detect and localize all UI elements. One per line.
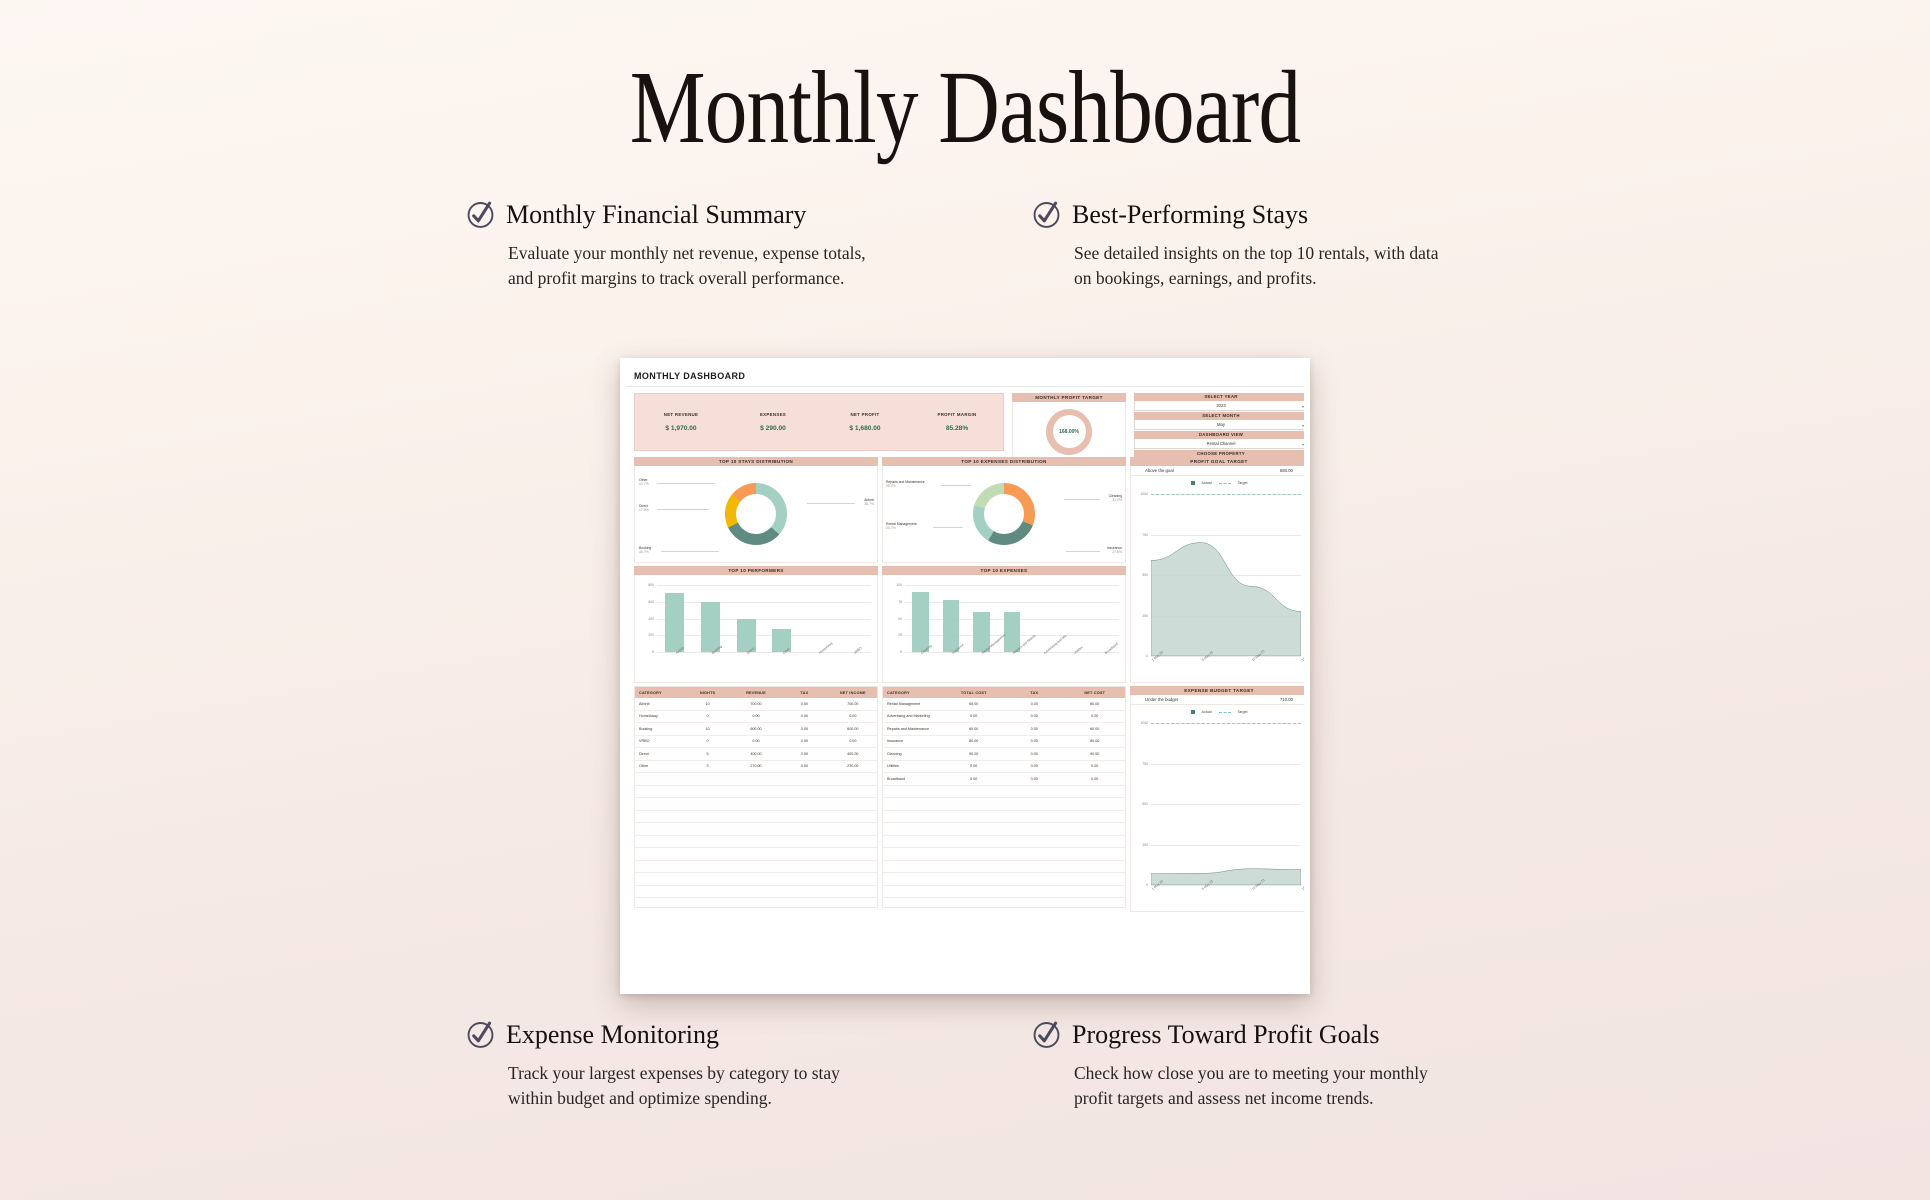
table-cell: 400.00 xyxy=(829,748,877,761)
table-row: Cleaning90.000.0090.00 xyxy=(883,748,1125,761)
table-cell xyxy=(780,885,828,898)
table-cell xyxy=(829,810,877,823)
table-cell xyxy=(635,785,683,798)
table-row: HomeAway00.000.000.00 xyxy=(635,710,877,723)
table-cell xyxy=(732,823,780,836)
table-cell xyxy=(1004,810,1065,823)
table-row: Insurance80.000.0080.00 xyxy=(883,735,1125,748)
profit-target-percent: 168.00% xyxy=(1059,429,1079,435)
y-axis-tick: 400 xyxy=(648,617,654,621)
table-column-header: NET INCOME xyxy=(829,687,877,698)
table-cell: 0.00 xyxy=(1004,723,1065,736)
table-cell xyxy=(683,810,731,823)
table-cell xyxy=(683,898,731,909)
panel-header: MONTHLY PROFIT TARGET xyxy=(1012,393,1126,402)
callout-value: 13.7% xyxy=(639,482,649,486)
selector-value: 2023 xyxy=(1216,403,1225,408)
table-cell: 0.00 xyxy=(780,698,828,710)
donut-callout-rental-mgmt: Rental Management 20.7% xyxy=(886,522,917,531)
table-wrapper: CATEGORYNIGHTSREVENUETAXNET INCOMEAirbnb… xyxy=(634,686,878,908)
expenses-distribution-panel: TOP 10 EXPENSES DISTRIBUTION Repairs and… xyxy=(882,457,1126,562)
panel-header: TOP 10 PERFORMERS xyxy=(634,566,878,575)
profit-goal-area-plot: 02505007501000 xyxy=(1151,494,1301,656)
table-row-empty xyxy=(635,885,877,898)
check-circle-icon xyxy=(466,200,495,229)
callout-leader-line xyxy=(657,509,709,510)
bar-cell xyxy=(657,585,693,652)
donut-callout-insurance: Insurance 27.6% xyxy=(1107,546,1122,555)
table-cell xyxy=(780,785,828,798)
chevron-down-icon: ▾ xyxy=(1302,423,1304,428)
gridline xyxy=(1151,656,1301,657)
y-axis-tick: 100 xyxy=(896,583,902,587)
table-cell xyxy=(732,785,780,798)
callout-leader-line xyxy=(933,527,963,528)
stays-distribution-donut xyxy=(725,483,787,545)
chevron-down-icon: ▾ xyxy=(1302,404,1304,409)
table-cell: 0.00 xyxy=(829,710,877,723)
table-cell xyxy=(635,860,683,873)
x-axis-tick: VRBO xyxy=(835,652,871,680)
x-axis-tick: Broadband xyxy=(1088,652,1119,680)
table-column-header: TAX xyxy=(1004,687,1065,698)
feature-title: Expense Monitoring xyxy=(506,1022,719,1048)
panel-header: PROFIT GOAL TARGET xyxy=(1130,457,1308,466)
feature-description: Evaluate your monthly net revenue, expen… xyxy=(508,241,876,292)
monthly-profit-target-panel: MONTHLY PROFIT TARGET 168.00% xyxy=(1012,393,1126,462)
table-cell xyxy=(780,860,828,873)
y-axis-tick: 75 xyxy=(898,600,902,604)
bar xyxy=(912,592,929,652)
table-cell: 10 xyxy=(683,723,731,736)
table-cell xyxy=(683,885,731,898)
y-axis-tick: 1000 xyxy=(1140,492,1148,496)
selector-select-month: SELECT MONTH May ▾ xyxy=(1134,412,1308,430)
feature-progress-toward-profit-goals: Progress Toward Profit Goals Check how c… xyxy=(1032,1020,1462,1112)
table-cell xyxy=(883,848,944,861)
table-cell xyxy=(635,798,683,811)
table-cell xyxy=(829,835,877,848)
table-cell: 80.00 xyxy=(944,735,1005,748)
table-cell: Utilities xyxy=(883,760,944,773)
table-cell: 90.00 xyxy=(1065,748,1126,761)
table-cell xyxy=(635,848,683,861)
x-axis-tick: Other xyxy=(764,652,800,680)
x-axis-tick: Repairs and Mainte… xyxy=(997,652,1028,680)
selector-label: SELECT MONTH xyxy=(1134,412,1308,420)
table-cell: 0 xyxy=(683,735,731,748)
kpi-value: $ 1,970.00 xyxy=(635,425,727,432)
selector-dropdown[interactable]: Rental Channel ▾ xyxy=(1134,439,1308,449)
x-axis-tick: Rental Management xyxy=(966,652,997,680)
table-cell xyxy=(829,785,877,798)
gridline xyxy=(1151,885,1301,886)
table-cell xyxy=(829,885,877,898)
table-cell xyxy=(944,785,1005,798)
stays-distribution-panel: TOP 10 STAYS DISTRIBUTION Other 13.7% Di… xyxy=(634,457,878,562)
table-cell: 0.00 xyxy=(1004,735,1065,748)
x-axis-labels: CleaningInsuranceRental ManagementRepair… xyxy=(905,652,1119,680)
bar-cell xyxy=(835,585,871,652)
header-divider xyxy=(626,386,1304,387)
table-cell: 0.00 xyxy=(780,735,828,748)
bar xyxy=(701,602,720,652)
bar-cell xyxy=(905,585,936,652)
table-row: Repairs and Maintenance60.000.0060.00 xyxy=(883,723,1125,736)
table-row-empty xyxy=(883,835,1125,848)
chart-legend: Actual Target xyxy=(1131,710,1307,714)
x-axis-tick: Insurance xyxy=(936,652,967,680)
callout-value: 31.0% xyxy=(1112,498,1122,502)
table-cell xyxy=(780,810,828,823)
table-cell xyxy=(1004,823,1065,836)
expenses-distribution-donut xyxy=(973,483,1035,545)
expenses-table-panel: CATEGORYTOTAL COSTTAXNET COSTRental Mana… xyxy=(882,686,1126,908)
table-cell: 3 xyxy=(683,760,731,773)
callout-value: 30.7% xyxy=(639,550,649,554)
table-cell xyxy=(883,785,944,798)
kpi-strip: NET REVENUE $ 1,970.00 EXPENSES $ 290.00… xyxy=(634,393,1004,451)
table-cell: 0.00 xyxy=(732,710,780,723)
table-cell: 0.00 xyxy=(1004,698,1065,710)
table-column-header: TOTAL COST xyxy=(944,687,1005,698)
table-row-empty xyxy=(635,823,877,836)
goal-status-row: Under the budget 710.00 xyxy=(1130,695,1308,705)
panel-body: Actual Target 02505007501000 1 May 235 M… xyxy=(1130,705,1308,912)
table-cell: 700.00 xyxy=(829,698,877,710)
table-cell: Booking xyxy=(635,723,683,736)
table-cell: 0.00 xyxy=(780,748,828,761)
feature-monthly-financial-summary: Monthly Financial Summary Evaluate your … xyxy=(466,200,896,292)
profit-goal-target-panel: PROFIT GOAL TARGET Above the goal 680.00… xyxy=(1130,457,1308,682)
selector-select-year: SELECT YEAR 2023 ▾ xyxy=(1134,393,1308,411)
feature-title: Monthly Financial Summary xyxy=(506,202,806,228)
table-cell: 0.00 xyxy=(944,773,1005,786)
bar xyxy=(943,600,960,652)
stays-table: CATEGORYNIGHTSREVENUETAXNET INCOMEAirbnb… xyxy=(635,687,877,908)
panel-header: TOP 10 EXPENSES xyxy=(882,566,1126,575)
check-circle-icon xyxy=(466,1020,495,1049)
table-cell xyxy=(1065,823,1126,836)
table-cell: 600.00 xyxy=(732,723,780,736)
table-row-empty xyxy=(635,848,877,861)
table-row-empty xyxy=(883,810,1125,823)
stays-table-panel: CATEGORYNIGHTSREVENUETAXNET INCOMEAirbnb… xyxy=(634,686,878,908)
panel-header: EXPENSE BUDGET TARGET xyxy=(1130,686,1308,695)
table-cell xyxy=(1004,848,1065,861)
expense-budget-target-panel: EXPENSE BUDGET TARGET Under the budget 7… xyxy=(1130,686,1308,911)
legend-label-target: Target xyxy=(1238,481,1248,485)
table-cell xyxy=(829,898,877,909)
table-header-row: CATEGORYTOTAL COSTTAXNET COST xyxy=(883,687,1125,698)
sheet-title: MONTHLY DASHBOARD xyxy=(634,371,745,381)
table-cell xyxy=(1004,860,1065,873)
panel-body: 168.00% xyxy=(1012,402,1126,462)
area-series xyxy=(1151,494,1301,656)
y-axis-tick: 50 xyxy=(898,617,902,621)
kpi-net-revenue: NET REVENUE $ 1,970.00 xyxy=(635,412,727,432)
panel-body: Actual Target 02505007501000 1 May 235 M… xyxy=(1130,476,1308,683)
table-cell xyxy=(683,823,731,836)
bar-series xyxy=(657,585,871,652)
table-column-header: NET COST xyxy=(1065,687,1126,698)
feature-best-performing-stays: Best-Performing Stays See detailed insig… xyxy=(1032,200,1462,292)
panel-body: Other 13.7% Direct 17.9% Booking 30.7% A… xyxy=(634,466,878,563)
bar-cell xyxy=(764,585,800,652)
table-cell xyxy=(635,810,683,823)
table-cell xyxy=(1004,873,1065,886)
table-cell: 270.00 xyxy=(732,760,780,773)
y-axis-tick: 250 xyxy=(1142,843,1148,847)
table-cell: 5 xyxy=(683,748,731,761)
table-row-empty xyxy=(883,885,1125,898)
legend-label-actual: Actual xyxy=(1202,710,1212,714)
table-cell xyxy=(635,835,683,848)
callout-leader-line xyxy=(807,503,855,504)
y-axis-tick: 200 xyxy=(648,633,654,637)
table-cell xyxy=(829,848,877,861)
table-cell: Advertising and Marketing xyxy=(883,710,944,723)
table-cell xyxy=(780,898,828,909)
y-axis-tick: 250 xyxy=(1142,614,1148,618)
callout-value: 20.7% xyxy=(886,526,896,530)
panel-body: 0255075100 CleaningInsuranceRental Manag… xyxy=(882,575,1126,683)
table-cell xyxy=(829,860,877,873)
table-cell xyxy=(1065,810,1126,823)
table-cell xyxy=(780,835,828,848)
selector-label: DASHBOARD VIEW xyxy=(1134,431,1308,439)
table-cell: 0.00 xyxy=(944,710,1005,723)
check-circle-icon xyxy=(1032,200,1061,229)
selector-dropdown[interactable]: May ▾ xyxy=(1134,420,1308,430)
bar-cell xyxy=(693,585,729,652)
table-cell xyxy=(1065,785,1126,798)
table-column-header: TAX xyxy=(780,687,828,698)
top-expenses-panel: TOP 10 EXPENSES 0255075100 CleaningInsur… xyxy=(882,566,1126,682)
table-cell xyxy=(1065,860,1126,873)
table-cell xyxy=(683,873,731,886)
feature-expense-monitoring: Expense Monitoring Track your largest ex… xyxy=(466,1020,896,1112)
table-column-header: REVENUE xyxy=(732,687,780,698)
page-title: Monthly Dashboard xyxy=(174,48,1757,167)
table-cell: 90.00 xyxy=(944,748,1005,761)
table-row-empty xyxy=(635,773,877,786)
profit-target-donut: 168.00% xyxy=(1046,409,1092,455)
table-row: Booking10600.000.00600.00 xyxy=(635,723,877,736)
y-axis-tick: 500 xyxy=(1142,802,1148,806)
kpi-profit-margin: PROFIT MARGIN 85.28% xyxy=(911,412,1003,432)
legend-label-actual: Actual xyxy=(1202,481,1212,485)
area-series xyxy=(1151,723,1301,885)
y-axis-tick: 1000 xyxy=(1140,721,1148,725)
table-row-empty xyxy=(635,873,877,886)
table-cell xyxy=(780,873,828,886)
panel-body: Repairs and Maintenance 20.7% Rental Man… xyxy=(882,466,1126,563)
table-cell xyxy=(683,835,731,848)
table-cell xyxy=(683,848,731,861)
table-cell xyxy=(635,873,683,886)
table-cell: 0.00 xyxy=(1004,710,1065,723)
table-cell xyxy=(780,848,828,861)
table-cell: 60.00 xyxy=(944,723,1005,736)
table-cell: 0.00 xyxy=(1065,710,1126,723)
y-axis-tick: 0 xyxy=(1146,883,1148,887)
table-cell: Direct xyxy=(635,748,683,761)
feature-description: See detailed insights on the top 10 rent… xyxy=(1074,241,1442,292)
table-row-empty xyxy=(635,810,877,823)
table-cell xyxy=(829,773,877,786)
goal-status-row: Above the goal 680.00 xyxy=(1130,466,1308,476)
y-axis-tick: 800 xyxy=(648,583,654,587)
goal-value: 680.00 xyxy=(1280,468,1293,473)
table-cell: 0.00 xyxy=(1004,773,1065,786)
y-axis-tick: 0 xyxy=(900,650,902,654)
table-row-empty xyxy=(635,898,877,909)
y-axis-tick: 600 xyxy=(648,600,654,604)
table-cell: 0.00 xyxy=(944,760,1005,773)
dashboard-screenshot: MONTHLY DASHBOARD NET REVENUE $ 1,970.00… xyxy=(620,358,1310,994)
callout-leader-line xyxy=(661,551,719,552)
callout-value: 20.7% xyxy=(886,484,896,488)
kpi-value: $ 290.00 xyxy=(727,425,819,432)
x-axis-tick: Booking xyxy=(693,652,729,680)
table-row-empty xyxy=(635,835,877,848)
table-cell: 700.00 xyxy=(732,698,780,710)
table-row: Broadband0.000.000.00 xyxy=(883,773,1125,786)
table-cell xyxy=(944,873,1005,886)
selector-dropdown[interactable]: 2023 ▾ xyxy=(1134,401,1308,411)
table-cell xyxy=(1004,798,1065,811)
y-axis-tick: 750 xyxy=(1142,533,1148,537)
table-cell: Repairs and Maintenance xyxy=(883,723,944,736)
table-row-empty xyxy=(883,873,1125,886)
chart-legend: Actual Target xyxy=(1131,481,1307,485)
table-cell xyxy=(1065,848,1126,861)
kpi-label: NET PROFIT xyxy=(819,412,911,417)
table-cell xyxy=(1004,785,1065,798)
goal-value: 710.00 xyxy=(1280,697,1293,702)
feature-heading: Monthly Financial Summary xyxy=(466,200,896,229)
table-cell: 400.00 xyxy=(732,748,780,761)
table-cell: Broadband xyxy=(883,773,944,786)
bar-cell xyxy=(1058,585,1089,652)
table-column-header: CATEGORY xyxy=(635,687,683,698)
feature-description: Check how close you are to meeting your … xyxy=(1074,1061,1442,1112)
selector-value: May xyxy=(1217,422,1225,427)
table-row-empty xyxy=(883,848,1125,861)
table-row: VRBO00.000.000.00 xyxy=(635,735,877,748)
table-cell xyxy=(883,873,944,886)
callout-leader-line xyxy=(1064,499,1100,500)
table-cell: VRBO xyxy=(635,735,683,748)
legend-swatch-actual xyxy=(1191,481,1195,485)
table-cell: 60.00 xyxy=(944,698,1005,710)
table-cell xyxy=(635,898,683,909)
table-row: Direct5400.000.00400.00 xyxy=(635,748,877,761)
top-performers-plot: 0200400600800 xyxy=(657,585,871,652)
table-cell xyxy=(944,835,1005,848)
table-cell xyxy=(732,773,780,786)
table-cell xyxy=(732,898,780,909)
callout-value: 35.7% xyxy=(864,502,874,506)
table-cell xyxy=(683,798,731,811)
panel-body: 0200400600800 AirbnbBookingDirectOtherHo… xyxy=(634,575,878,683)
y-axis-tick: 0 xyxy=(652,650,654,654)
table-row-empty xyxy=(883,823,1125,836)
table-cell xyxy=(732,835,780,848)
table-wrapper: CATEGORYTOTAL COSTTAXNET COSTRental Mana… xyxy=(882,686,1126,908)
table-cell xyxy=(1004,835,1065,848)
table-cell xyxy=(944,848,1005,861)
table-cell xyxy=(732,860,780,873)
expense-budget-area-plot: 02505007501000 xyxy=(1151,723,1301,885)
x-axis-date: 15 May 23 xyxy=(1301,649,1310,662)
table-cell xyxy=(1065,885,1126,898)
table-cell xyxy=(635,773,683,786)
table-cell xyxy=(683,785,731,798)
x-axis-tick: Utilities xyxy=(1058,652,1089,680)
table-row: Advertising and Marketing0.000.000.00 xyxy=(883,710,1125,723)
table-header-row: CATEGORYNIGHTSREVENUETAXNET INCOME xyxy=(635,687,877,698)
table-cell xyxy=(883,860,944,873)
table-cell xyxy=(732,885,780,898)
kpi-value: 85.28% xyxy=(911,425,1003,432)
table-cell xyxy=(829,823,877,836)
table-cell xyxy=(732,848,780,861)
x-axis-tick: Airbnb xyxy=(657,652,693,680)
table-cell xyxy=(1065,873,1126,886)
table-cell: 0.00 xyxy=(780,710,828,723)
y-axis-tick: 500 xyxy=(1142,573,1148,577)
table-cell xyxy=(732,810,780,823)
table-row: Other3270.000.00270.00 xyxy=(635,760,877,773)
table-row-empty xyxy=(635,785,877,798)
area-path xyxy=(1151,869,1301,885)
selector-dashboard-view: DASHBOARD VIEW Rental Channel ▾ xyxy=(1134,431,1308,449)
table-cell: Airbnb xyxy=(635,698,683,710)
x-axis-date: 15 May 23 xyxy=(1301,878,1310,891)
goal-status: Under the budget xyxy=(1145,697,1178,702)
legend-label-target: Target xyxy=(1238,710,1248,714)
table-cell xyxy=(1004,885,1065,898)
table-cell: 0.00 xyxy=(1004,748,1065,761)
x-axis-labels: AirbnbBookingDirectOtherHomeAwayVRBO xyxy=(657,652,871,680)
donut-callout-airbnb: Airbnb 35.7% xyxy=(864,498,874,507)
table-cell xyxy=(780,773,828,786)
feature-title: Best-Performing Stays xyxy=(1072,202,1308,228)
table-cell xyxy=(1065,898,1126,909)
table-cell xyxy=(829,798,877,811)
table-cell xyxy=(635,885,683,898)
table-cell: Cleaning xyxy=(883,748,944,761)
spreadsheet-canvas: MONTHLY DASHBOARD NET REVENUE $ 1,970.00… xyxy=(626,364,1304,988)
table-cell: 0.00 xyxy=(1004,760,1065,773)
table-cell xyxy=(780,798,828,811)
x-axis-dates: 1 May 235 May 2310 May 2315 May 23 xyxy=(1151,887,1301,911)
bar-cell xyxy=(728,585,764,652)
selector-label: SELECT YEAR xyxy=(1134,393,1308,401)
target-line xyxy=(1151,723,1301,724)
table-cell: 60.00 xyxy=(1065,723,1126,736)
table-cell xyxy=(883,823,944,836)
feature-heading: Best-Performing Stays xyxy=(1032,200,1462,229)
table-cell: 0.00 xyxy=(780,760,828,773)
table-row: Rental Management60.000.0060.00 xyxy=(883,698,1125,710)
legend-swatch-actual xyxy=(1191,710,1195,714)
legend-swatch-target xyxy=(1219,712,1231,713)
table-column-header: NIGHTS xyxy=(683,687,731,698)
table-cell xyxy=(883,898,944,909)
